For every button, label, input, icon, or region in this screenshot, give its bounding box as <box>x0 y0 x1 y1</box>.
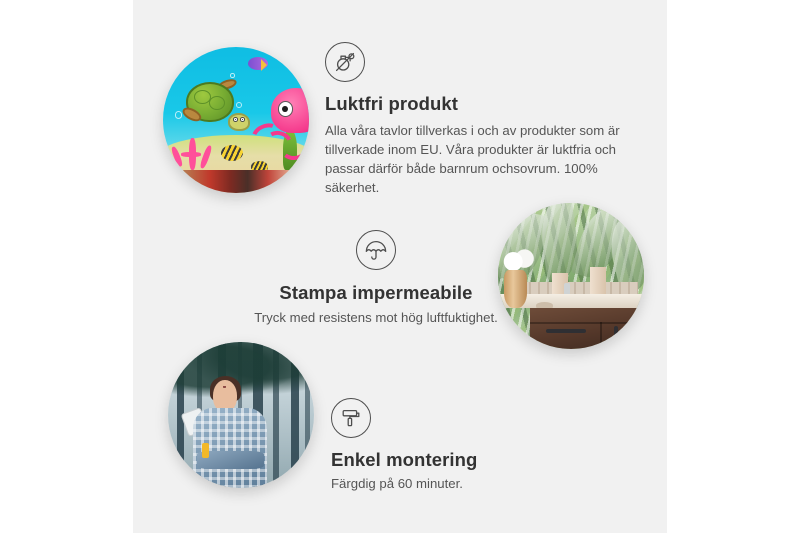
turtle-head <box>228 113 251 131</box>
yellow-striped-fish <box>221 145 243 161</box>
feature-title: Enkel montering <box>331 448 631 471</box>
woman-with-paint-roller-forest-disc <box>168 342 314 488</box>
feature-odourless: Luktfri produkt Alla våra tavlor tillver… <box>325 42 635 198</box>
pink-coral <box>169 132 219 170</box>
lower-image-strip <box>163 170 309 193</box>
feature-body: Alla våra tavlor tillverkas i och av pro… <box>325 122 621 198</box>
underwater-scene <box>163 47 309 193</box>
octopus-head <box>271 88 309 133</box>
wood-vanity-cabinet <box>530 308 644 349</box>
icon-wrap <box>331 398 631 438</box>
smile <box>223 386 226 387</box>
green-sea-turtle <box>181 79 248 132</box>
woman-figure <box>188 380 270 488</box>
forest-mural-scene <box>168 342 314 488</box>
paint-roller-icon <box>331 398 371 438</box>
turtle-eye <box>233 117 239 122</box>
cabinet-seam <box>600 322 602 349</box>
icon-wrap <box>325 42 635 82</box>
octopus-eye <box>278 101 293 116</box>
underwater-cartoon-mural-disc <box>163 47 309 193</box>
yellow-tool <box>202 443 209 458</box>
feature-title: Stampa impermeabile <box>221 281 531 304</box>
cabinet-seam <box>530 322 644 324</box>
icon-wrap <box>221 230 531 270</box>
no-scent-perfume-bottle-icon <box>325 42 365 82</box>
umbrella-icon <box>356 230 396 270</box>
purple-fish <box>248 57 268 70</box>
drawer-handle <box>546 329 586 333</box>
content-panel: Luktfri produkt Alla våra tavlor tillver… <box>133 0 667 533</box>
feature-waterproof: Stampa impermeabile Tryck med resistens … <box>221 230 531 328</box>
door-handle <box>614 326 618 338</box>
feature-easy-mounting: Enkel montering Färgdig på 60 minuter. <box>331 398 631 494</box>
feature-title: Luktfri produkt <box>325 92 635 115</box>
feature-body: Färgdig på 60 minuter. <box>331 475 631 494</box>
turtle-eye <box>240 117 246 122</box>
pink-octopus <box>254 88 309 158</box>
feature-body: Tryck med resistens mot hög luftfuktighe… <box>221 309 531 328</box>
bubble-icon <box>230 73 234 77</box>
infographic-stage: Luktfri produkt Alla våra tavlor tillver… <box>0 0 800 533</box>
